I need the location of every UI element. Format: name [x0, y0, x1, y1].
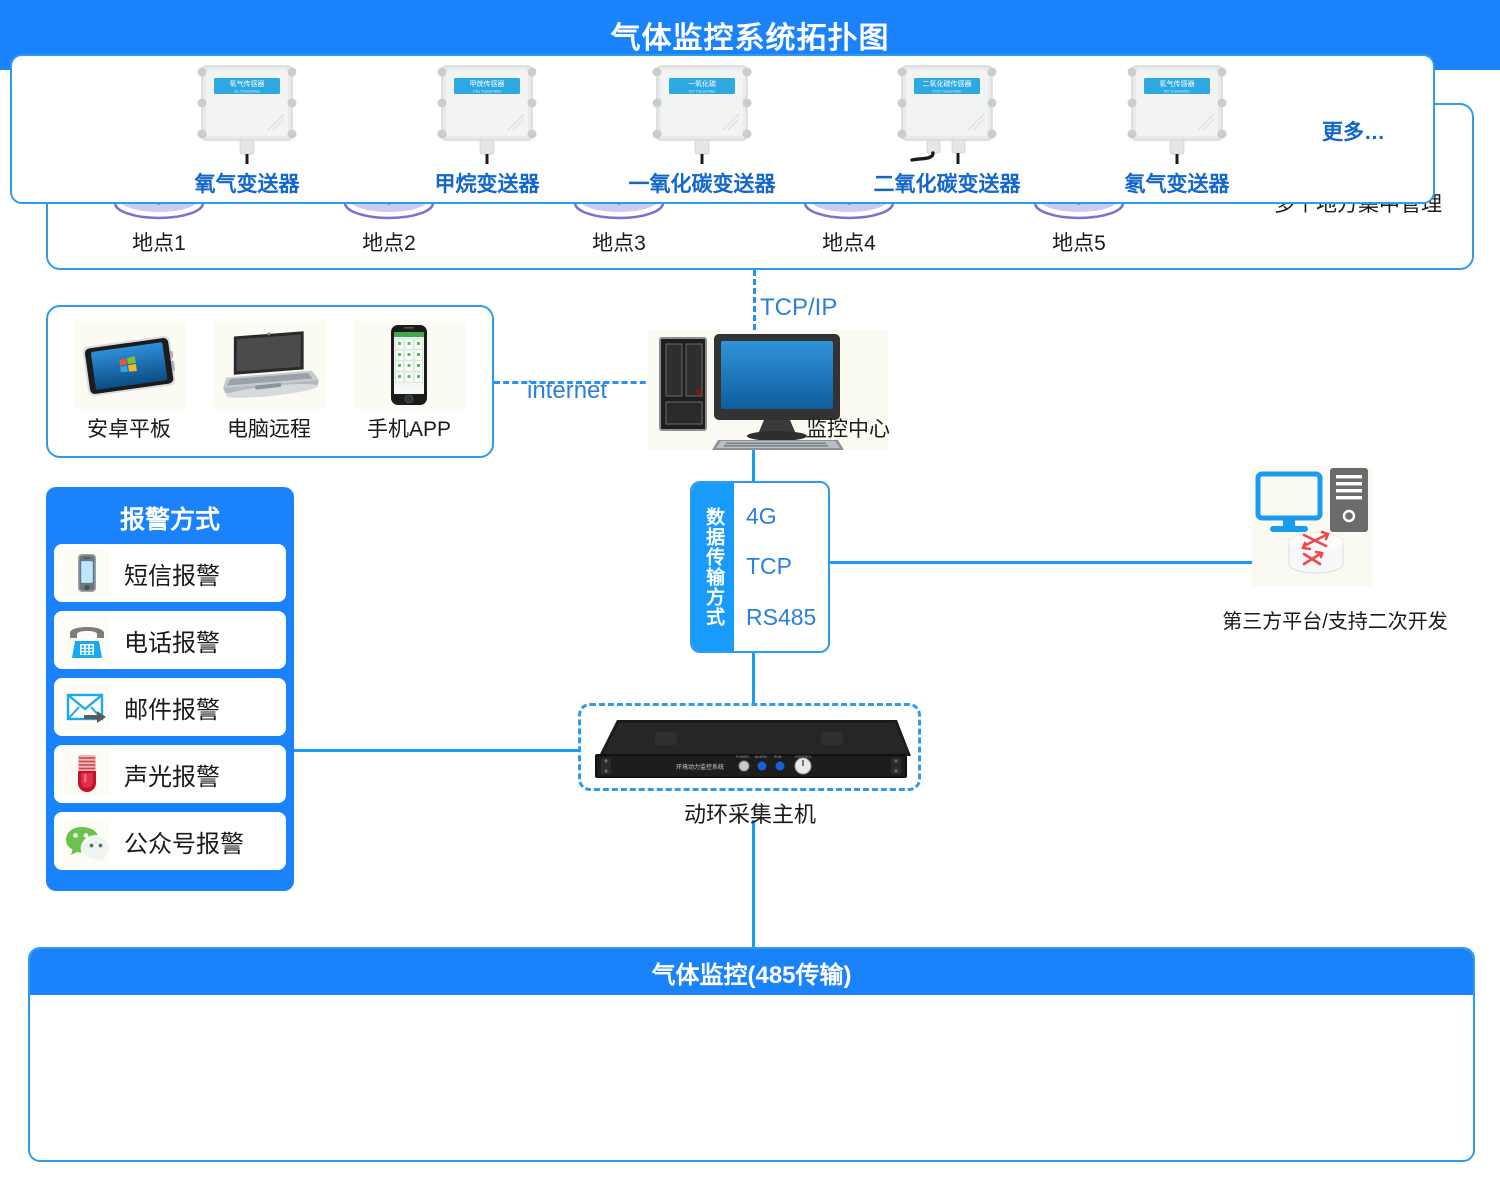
transmission-mode-tcp: TCP [746, 553, 828, 580]
clients-panel: 安卓平板 电脑远程 [46, 305, 494, 458]
svg-text:CONTROL: CONTROL [795, 755, 812, 759]
client-item-laptop[interactable]: 电脑远程 [204, 321, 334, 443]
host-dashed-box: 环境动力监控系统 POWERALARMRUNCONTROL [578, 703, 921, 791]
sensor-item[interactable]: 氧气传感器 O₂ Transmitter 氧气变送器 [147, 60, 347, 198]
sensor-label: 一氧化碳变送器 [602, 168, 802, 198]
svg-text:CO2 Transmitter: CO2 Transmitter [932, 89, 962, 94]
email-icon [64, 684, 110, 730]
svg-text:二氧化碳传感器: 二氧化碳传感器 [923, 79, 972, 88]
gas-sensor-icon: 氧气传感器 O₂ Transmitter [172, 60, 322, 168]
svg-text:环境动力监控系统: 环境动力监控系统 [676, 763, 724, 771]
sms-phone-icon [64, 550, 110, 596]
sensor-item[interactable]: 甲烷传感器 CH₄ Transmitter 甲烷变送器 [387, 60, 587, 198]
collection-host-label: 动环采集主机 [610, 797, 890, 829]
smartphone-icon [353, 321, 465, 409]
tcpip-link-label: TCP/IP [760, 294, 837, 322]
alarm-methods-panel: 报警方式 短信报警 电 [46, 487, 294, 891]
svg-text:ALARM: ALARM [755, 755, 767, 759]
gas-panel-title: 气体监控(485传输) [30, 949, 1473, 995]
alarm-item-label: 电话报警 [124, 623, 220, 658]
gas-monitoring-panel: 气体监控(485传输) [28, 947, 1475, 1162]
alarm-item-sms[interactable]: 短信报警 [54, 544, 286, 602]
sensor-label: 氡气变送器 [1077, 168, 1277, 198]
svg-text:一氧化碳: 一氧化碳 [688, 79, 716, 88]
alarm-item-wechat[interactable]: 公众号报警 [54, 812, 286, 870]
client-label: 安卓平板 [64, 413, 194, 443]
location-label: 地点1 [84, 227, 234, 257]
svg-text:氡气传感器: 氡气传感器 [1160, 79, 1195, 88]
sensor-label: 氧气变送器 [147, 168, 347, 198]
connector-data-box-to-host [752, 651, 755, 705]
router-server-icon [1252, 466, 1382, 596]
gas-sensors-container: 氧气传感器 O₂ Transmitter 氧气变送器 甲烷传感器 CH₄ Tra [10, 54, 1435, 204]
alarm-item-label: 短信报警 [124, 556, 220, 591]
gas-sensor-icon: 甲烷传感器 CH₄ Transmitter [412, 60, 562, 168]
gas-more-label[interactable]: 更多… [1322, 116, 1385, 146]
wechat-icon [64, 818, 110, 864]
client-item-tablet[interactable]: 安卓平板 [64, 321, 194, 443]
alarm-item-email[interactable]: 邮件报警 [54, 678, 286, 736]
location-label: 地点5 [1004, 227, 1154, 257]
connector-host-to-gas [752, 820, 755, 948]
sensor-label: 二氧化碳变送器 [847, 168, 1047, 198]
topology-diagram: 气体监控系统拓扑图 [0, 0, 1500, 1200]
sensor-label: 甲烷变送器 [387, 168, 587, 198]
page-title: 气体监控系统拓扑图 [611, 13, 890, 57]
monitoring-center[interactable] [648, 330, 948, 450]
alarm-item-label: 声光报警 [124, 757, 220, 792]
location-label: 地点4 [774, 227, 924, 257]
alarm-item-phone[interactable]: 电话报警 [54, 611, 286, 669]
svg-text:甲烷传感器: 甲烷传感器 [470, 79, 505, 88]
svg-text:POWER: POWER [736, 755, 749, 759]
alarm-panel-title: 报警方式 [54, 495, 286, 544]
svg-text:Rn Transmitter: Rn Transmitter [1164, 89, 1191, 94]
alarm-item-label: 邮件报警 [124, 690, 220, 725]
svg-text:RUN: RUN [774, 755, 782, 759]
internet-link-label: internet [527, 377, 607, 405]
connector-locations-to-center [753, 270, 756, 330]
gas-sensor-icon: 一氧化碳 CO Transmitter [627, 60, 777, 168]
sound-light-alarm-icon [64, 751, 110, 797]
svg-text:CH₄ Transmitter: CH₄ Transmitter [473, 89, 502, 94]
svg-text:CO Transmitter: CO Transmitter [688, 89, 716, 94]
sensor-item[interactable]: 二氧化碳传感器 CO2 Transmitter 二氧化碳变送器 [847, 60, 1047, 198]
monitoring-center-label: 监控中心 [806, 413, 890, 443]
svg-text:O₂ Transmitter: O₂ Transmitter [234, 89, 260, 94]
collection-host-icon[interactable]: 环境动力监控系统 POWERALARMRUNCONTROL [581, 706, 920, 790]
client-label: 手机APP [344, 413, 474, 443]
desktop-computer-icon [648, 330, 948, 450]
telephone-icon [64, 617, 110, 663]
transmission-mode-4g: 4G [746, 503, 828, 530]
tablet-icon [73, 321, 185, 409]
svg-text:氧气传感器: 氧气传感器 [230, 79, 265, 88]
location-label: 地点3 [544, 227, 694, 257]
third-party-platform-label: 第三方平台/支持二次开发 [1190, 605, 1480, 634]
data-transmission-title: 数据传输方式 [692, 483, 734, 651]
sensor-item[interactable]: 一氧化碳 CO Transmitter 一氧化碳变送器 [602, 60, 802, 198]
client-item-app[interactable]: 手机APP [344, 321, 474, 443]
gas-sensor-icon: 氡气传感器 Rn Transmitter [1102, 60, 1252, 168]
data-transmission-panel: 数据传输方式 4G TCP RS485 [690, 481, 830, 653]
sensor-item[interactable]: 氡气传感器 Rn Transmitter 氡气变送器 [1077, 60, 1277, 198]
alarm-item-sound-light[interactable]: 声光报警 [54, 745, 286, 803]
alarm-item-label: 公众号报警 [124, 824, 244, 859]
client-label: 电脑远程 [204, 413, 334, 443]
gas-sensor-icon: 二氧化碳传感器 CO2 Transmitter [872, 60, 1022, 168]
third-party-platform[interactable] [1252, 466, 1382, 596]
connector-data-box-to-thirdparty [828, 561, 1264, 564]
location-label: 地点2 [314, 227, 464, 257]
connector-alarm-to-host [292, 749, 580, 752]
transmission-mode-rs485: RS485 [746, 604, 828, 631]
laptop-icon [213, 321, 325, 409]
